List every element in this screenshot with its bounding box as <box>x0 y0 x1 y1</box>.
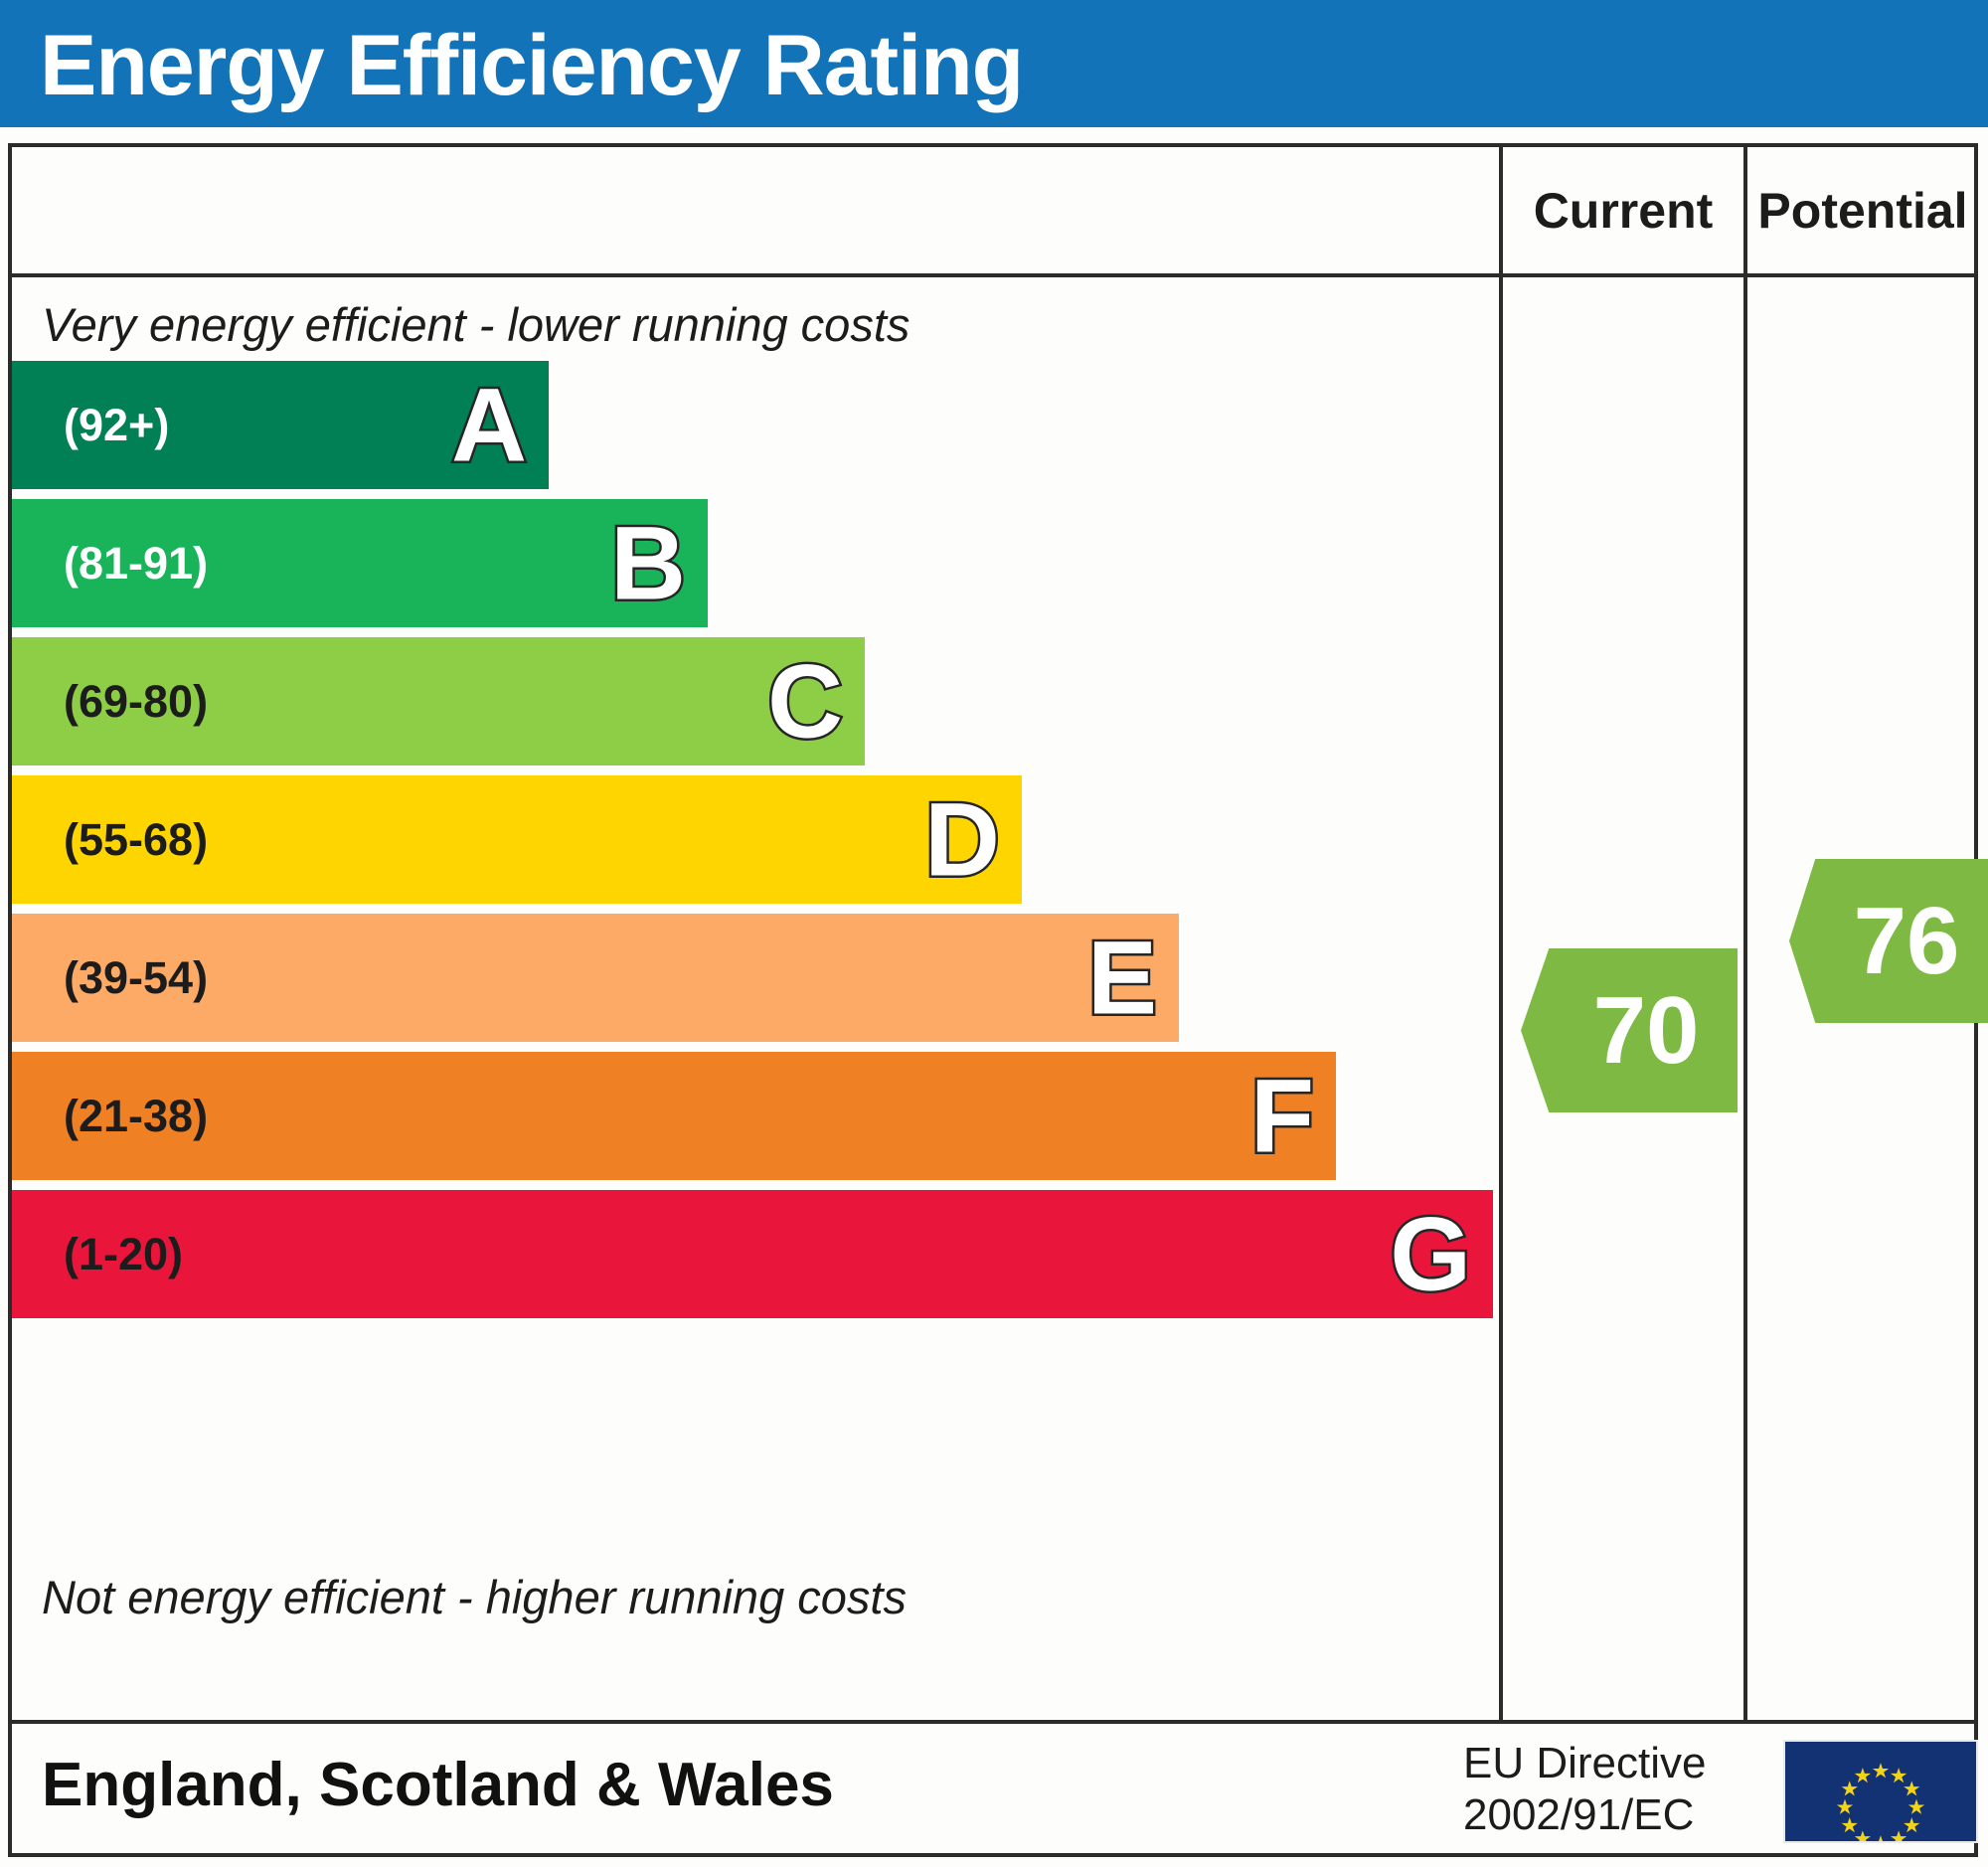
chart-frame: Current Potential Very energy efficient … <box>8 143 1978 1857</box>
band-a-range: (92+) <box>64 400 169 451</box>
eu-directive-text: EU Directive 2002/91/EC <box>1463 1738 1707 1841</box>
column-header-row: Current Potential <box>12 147 1974 277</box>
column-header-current: Current <box>1499 147 1743 273</box>
band-a-letter: A <box>451 373 527 477</box>
band-b-letter: B <box>610 511 686 615</box>
band-f: (21-38) F <box>12 1052 1336 1180</box>
potential-rating-arrow: 76 <box>1789 859 1988 1023</box>
current-rating-value: 70 <box>1593 983 1700 1079</box>
rating-bands: (92+) A (81-91) B (69-80) C (55-68) D (3… <box>12 277 1499 1724</box>
band-d-letter: D <box>924 787 1000 892</box>
energy-efficiency-certificate: Energy Efficiency Rating Current Potenti… <box>0 0 1988 1867</box>
band-d: (55-68) D <box>12 775 1022 904</box>
band-f-letter: F <box>1250 1064 1314 1168</box>
column-header-potential: Potential <box>1743 147 1978 273</box>
potential-rating-value: 76 <box>1854 894 1960 989</box>
band-d-range: (55-68) <box>64 814 208 866</box>
footer: England, Scotland & Wales EU Directive 2… <box>12 1724 1974 1857</box>
current-rating-arrow: 70 <box>1521 948 1738 1112</box>
band-a: (92+) A <box>12 361 549 489</box>
band-f-range: (21-38) <box>64 1091 208 1142</box>
band-b-range: (81-91) <box>64 538 208 590</box>
band-e-letter: E <box>1087 926 1157 1030</box>
eu-flag-icon <box>1783 1740 1978 1843</box>
band-e-range: (39-54) <box>64 952 208 1004</box>
footer-region-label: England, Scotland & Wales <box>42 1750 834 1820</box>
band-c: (69-80) C <box>12 637 865 765</box>
band-c-range: (69-80) <box>64 676 208 728</box>
title-bar: Energy Efficiency Rating <box>0 0 1988 127</box>
caption-bottom: Not energy efficient - higher running co… <box>42 1570 907 1624</box>
band-c-letter: C <box>767 649 843 754</box>
eu-directive-line2: 2002/91/EC <box>1463 1789 1707 1841</box>
band-g-letter: G <box>1390 1202 1471 1306</box>
band-g-range: (1-20) <box>64 1229 183 1280</box>
eu-directive-line1: EU Directive <box>1463 1738 1707 1789</box>
page-title: Energy Efficiency Rating <box>40 18 1023 113</box>
band-b: (81-91) B <box>12 499 708 627</box>
band-g: (1-20) G <box>12 1190 1493 1318</box>
band-e: (39-54) E <box>12 914 1179 1042</box>
